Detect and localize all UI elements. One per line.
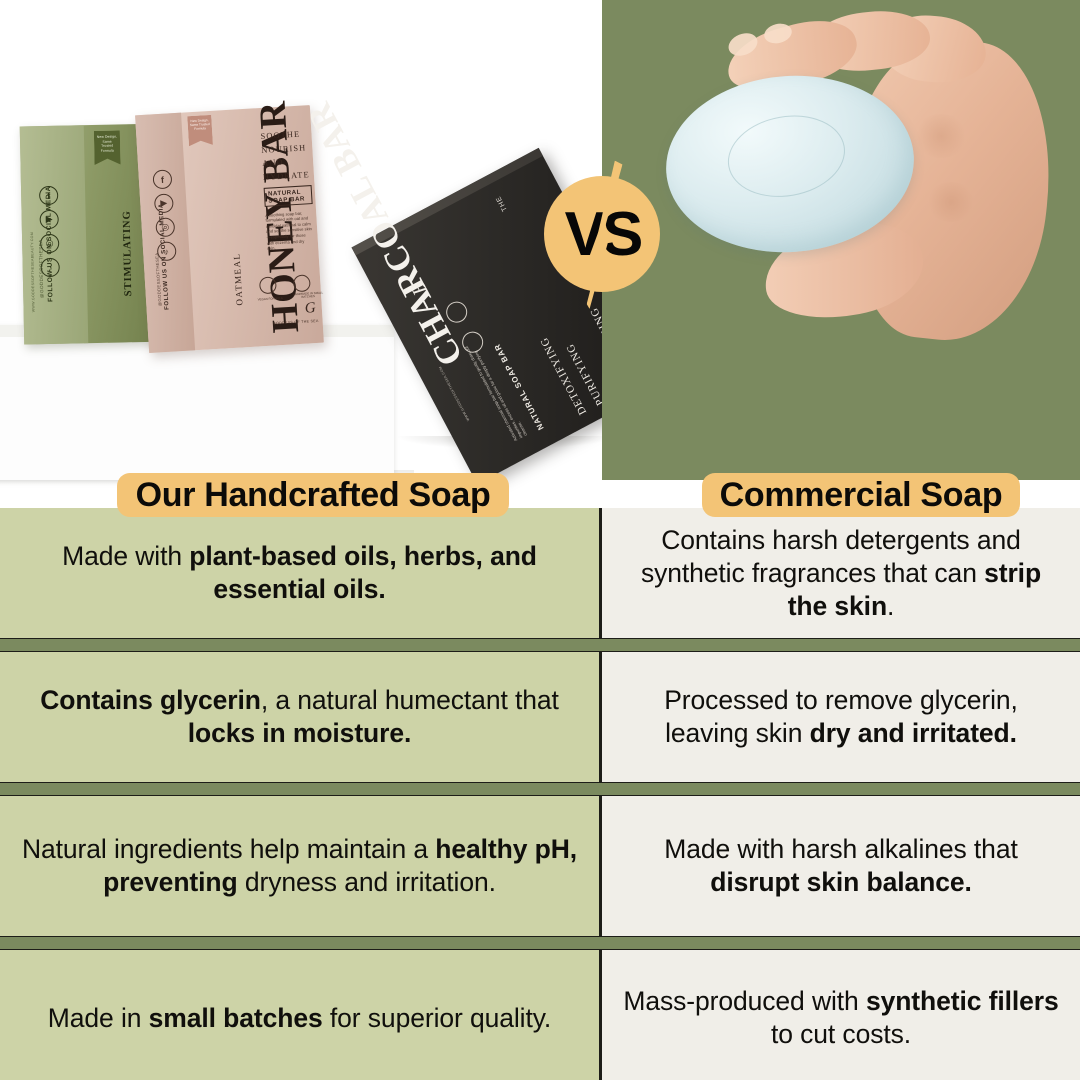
knuckle-shading-2 — [926, 182, 976, 222]
honey-facebook-glyph: f — [153, 170, 171, 188]
row-2-handcrafted-text: Contains glycerin, a natural humectant t… — [20, 684, 579, 750]
instagram-glyph: ◎ — [41, 235, 58, 252]
soap-bar-embossing — [721, 107, 851, 206]
row-4-handcrafted-cell: Made in small batches for superior quali… — [0, 950, 602, 1080]
honey-bar-kicker: OATMEAL — [231, 253, 244, 306]
comparison-table: Made with plant-based oils, herbs, and e… — [0, 508, 1080, 1080]
row-1-commercial-cell: Contains harsh detergents and synthetic … — [602, 508, 1080, 638]
row-separator-1 — [0, 638, 1080, 652]
tiktok-icon: ♪ — [40, 258, 59, 277]
honey-instagram-glyph: ◎ — [156, 218, 174, 236]
honey-box-flag-text: New Design, Same Trusted Formula — [188, 118, 211, 132]
tiktok-glyph: ♪ — [42, 259, 59, 276]
honey-tagline: NATURAL SOAP BAR — [264, 185, 313, 207]
row-4-commercial-cell: Mass-produced with synthetic fillers to … — [602, 950, 1080, 1080]
row-separator-3 — [0, 936, 1080, 950]
honey-messenger-glyph: ▶ — [155, 194, 173, 212]
honey-claim-4: HYDRATE — [263, 168, 312, 184]
row-2-commercial-cell: Processed to remove glycerin, leaving sk… — [602, 652, 1080, 782]
table-row: Made in small batches for superior quali… — [0, 950, 1080, 1080]
row-1-commercial-text: Contains harsh detergents and synthetic … — [622, 524, 1060, 623]
charcoal-the-label: THE — [495, 195, 509, 213]
photo-band: New Design, Same Trusted Formula NURSE B… — [0, 0, 1080, 508]
row-4-commercial-text: Mass-produced with synthetic fillers to … — [622, 985, 1060, 1051]
honey-tiktok-glyph: ♪ — [158, 242, 176, 260]
knuckle-shading-1 — [914, 114, 968, 158]
table-row: Contains glycerin, a natural humectant t… — [0, 652, 1080, 782]
honey-tiktok-icon: ♪ — [157, 241, 177, 261]
charcoal-url: WWW.GODDESSOFTHESEA.COM — [438, 366, 470, 422]
honey-messenger-icon: ▶ — [154, 193, 174, 213]
vs-badge: VS — [544, 176, 660, 292]
row-separator-2 — [0, 782, 1080, 796]
commercial-soap-photo — [602, 0, 1080, 480]
honey-facebook-icon: f — [152, 169, 172, 189]
row-1-handcrafted-cell: Made with plant-based oils, herbs, and e… — [0, 508, 602, 638]
row-4-handcrafted-text: Made in small batches for superior quali… — [48, 1002, 551, 1035]
honey-signature: G — [304, 300, 316, 318]
header-badge-commercial: Commercial Soap — [702, 473, 1020, 517]
row-3-handcrafted-text: Natural ingredients help maintain a heal… — [20, 833, 579, 899]
honey-instagram-icon: ◎ — [155, 217, 175, 237]
handmade-badge-icon — [293, 274, 311, 292]
table-row: Natural ingredients help maintain a heal… — [0, 796, 1080, 936]
row-2-commercial-text: Processed to remove glycerin, leaving sk… — [622, 684, 1060, 750]
facebook-icon: f — [39, 186, 58, 205]
header-badge-handcrafted: Our Handcrafted Soap — [117, 473, 509, 517]
honey-box-claim-block: SOOTHE NOURISH AND HYDRATE NATURAL SOAP … — [260, 127, 315, 251]
row-3-commercial-cell: Made with harsh alkalines that disrupt s… — [602, 796, 1080, 936]
facebook-glyph: f — [40, 187, 57, 204]
honey-bar-box: New Design, Same Trusted Formula HONEY B… — [135, 105, 324, 353]
instagram-icon: ◎ — [40, 234, 59, 253]
table-row: Made with plant-based oils, herbs, and e… — [0, 508, 1080, 638]
handmade-badge-label: HANDMADE IN SMALL BATCHES — [291, 291, 325, 300]
handcrafted-soap-photo: New Design, Same Trusted Formula NURSE B… — [0, 0, 602, 508]
comparison-infographic: New Design, Same Trusted Formula NURSE B… — [0, 0, 1080, 1080]
row-3-commercial-text: Made with harsh alkalines that disrupt s… — [622, 833, 1060, 899]
row-1-handcrafted-text: Made with plant-based oils, herbs, and e… — [20, 540, 579, 606]
nurse-bar-kicker: STIMULATING — [122, 210, 135, 296]
honey-claim-2: NOURISH — [261, 141, 310, 157]
hand-holding-soap — [614, 0, 1080, 394]
messenger-glyph: ▶ — [41, 211, 58, 228]
messenger-icon: ▶ — [39, 210, 58, 229]
row-3-handcrafted-cell: Natural ingredients help maintain a heal… — [0, 796, 602, 936]
row-2-handcrafted-cell: Contains glycerin, a natural humectant t… — [0, 652, 602, 782]
nurse-box-flag-text: New Design, Same Trusted Formula — [96, 134, 118, 153]
honey-body-copy: A soothing soap bar, formulated with oat… — [265, 210, 313, 252]
